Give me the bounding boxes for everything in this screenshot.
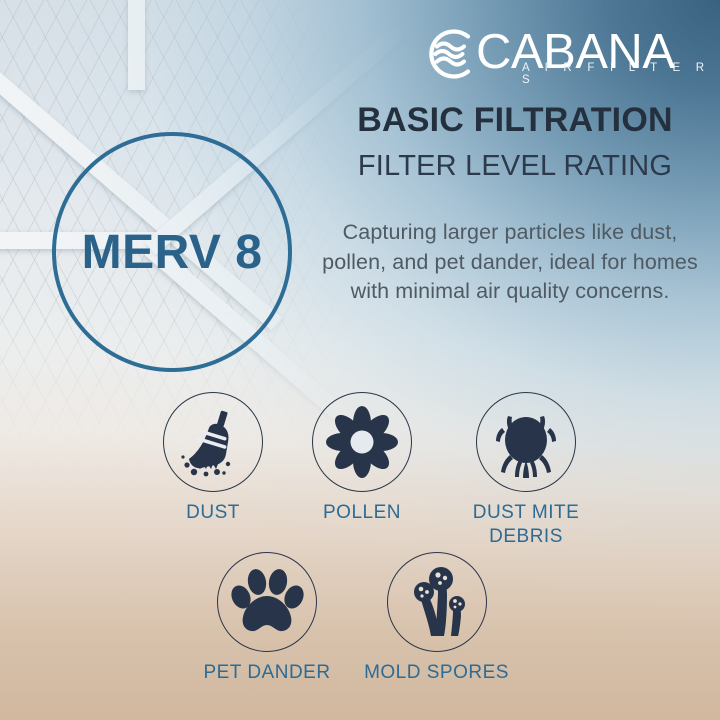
infographic-canvas: CABANA A I R F I L T E R S BASIC FILTRAT…: [0, 0, 720, 720]
merv-rating-badge: MERV 8: [52, 132, 292, 372]
merv-rating-label: MERV 8: [82, 225, 263, 280]
particle-label: PET DANDER: [182, 661, 352, 685]
particle-item-pet-dander: PET DANDER: [215, 552, 319, 685]
dust-mite-icon: [476, 392, 576, 492]
cabana-wave-c-icon: [424, 28, 476, 80]
particle-label-line2: DEBRIS: [489, 526, 563, 547]
particle-label-line1: DUST MITE: [473, 502, 580, 523]
particle-item-pollen: POLLEN: [310, 392, 414, 525]
description-text: Capturing larger particles like dust, po…: [312, 218, 708, 307]
flower-pollen-icon: [312, 392, 412, 492]
particle-label: DUST: [161, 501, 265, 525]
page-subtitle: FILTER LEVEL RATING: [330, 148, 700, 184]
particle-item-dust: DUST: [161, 392, 265, 525]
mold-spores-icon: [387, 552, 487, 652]
particle-label: MOLD SPORES: [349, 661, 524, 685]
page-title: BASIC FILTRATION: [330, 100, 700, 140]
paw-print-icon: [217, 552, 317, 652]
brand-tagline: A I R F I L T E R S: [522, 62, 720, 86]
broom-dust-icon: [163, 392, 263, 492]
particle-label: DUST MITE DEBRIS: [451, 501, 601, 549]
particle-item-dust-mite: DUST MITE DEBRIS: [466, 392, 586, 549]
particle-item-mold-spores: MOLD SPORES: [385, 552, 489, 685]
particle-label: POLLEN: [310, 501, 414, 525]
